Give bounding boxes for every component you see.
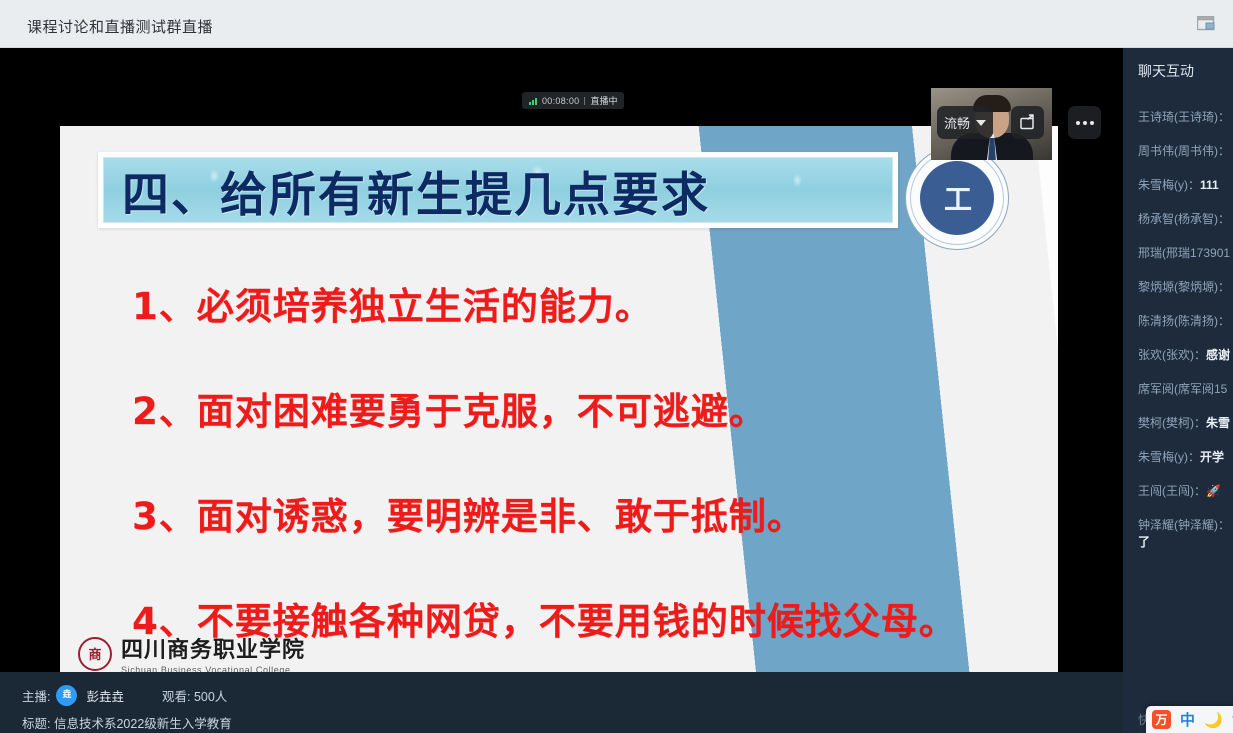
chat-message: 黎炳塬(黎炳塬)： — [1123, 279, 1233, 296]
quality-selector[interactable]: 流畅 — [937, 106, 993, 139]
picture-in-picture-icon[interactable] — [1197, 16, 1217, 34]
college-seal-icon: 商 — [78, 637, 112, 671]
chat-message-sender: 钟泽耀(钟泽耀)： — [1138, 518, 1230, 532]
chat-message-text: 了 — [1138, 535, 1150, 549]
screen-share-icon — [1019, 114, 1036, 131]
chat-message-sender: 邢瑞(邢瑞173901 — [1138, 246, 1230, 260]
video-stage[interactable]: 00:08:00 直播中 四、给所有新生提几点要求 工 1、必须培养独立生活的能… — [0, 48, 1123, 672]
presentation-slide: 四、给所有新生提几点要求 工 1、必须培养独立生活的能力。 2、面对困难要勇于克… — [60, 126, 1058, 672]
live-status-pill: 00:08:00 直播中 — [522, 92, 624, 109]
slide-bullet-list: 1、必须培养独立生活的能力。 2、面对困难要勇于克服，不可逃避。 3、面对诱惑，… — [132, 276, 1052, 672]
stream-info-bar: 主播: 垚 彭垚垚 观看: 500人 标题: 信息技术系2022级新生入学教育 — [0, 672, 1123, 733]
chat-message: 王诗琦(王诗琦)： — [1123, 109, 1233, 126]
chat-message: 王闯(王闯)：🚀 — [1123, 483, 1233, 500]
slide-title: 四、给所有新生提几点要求 — [104, 156, 710, 225]
slide-bullet: 3、面对诱惑，要明辨是非、敢于抵制。 — [132, 486, 1052, 540]
moon-icon[interactable]: 🌙 — [1204, 711, 1223, 729]
chat-message: 樊柯(樊柯)：朱雪 — [1123, 415, 1233, 432]
chat-message-text: 感谢 — [1206, 348, 1230, 362]
chat-message: 钟泽耀(钟泽耀)：了 — [1123, 517, 1233, 551]
viewer-count: 观看: 500人 — [162, 686, 227, 705]
chat-message: 陈清扬(陈清扬)： — [1123, 313, 1233, 330]
screen-share-button[interactable] — [1011, 106, 1044, 139]
college-name-cn: 四川商务职业学院 — [121, 632, 305, 664]
chat-message-text: 111 — [1200, 178, 1219, 192]
stream-timer: 00:08:00 — [542, 96, 579, 106]
divider — [584, 97, 585, 105]
chevron-down-icon[interactable] — [976, 120, 986, 126]
chat-message-sender: 陈清扬(陈清扬)： — [1138, 314, 1230, 328]
signal-bars-icon — [529, 97, 537, 105]
slide-title-banner: 四、给所有新生提几点要求 — [98, 152, 898, 228]
stream-title-value: 信息技术系2022级新生入学教育 — [54, 717, 232, 731]
chat-message-sender: 樊柯(樊柯)： — [1138, 416, 1206, 430]
chat-message: 席军阅(席军阅15 — [1123, 381, 1233, 398]
window-header: 课程讨论和直播测试群直播 — [0, 0, 1233, 48]
chat-panel: 聊天互动 王诗琦(王诗琦)：周书伟(周书伟)：朱雪梅(y)：111杨承智(杨承智… — [1123, 48, 1233, 733]
chat-message: 朱雪梅(y)：111 — [1123, 177, 1233, 194]
chat-message: 张欢(张欢)：感谢 — [1123, 347, 1233, 364]
chat-message-list[interactable]: 王诗琦(王诗琦)：周书伟(周书伟)：朱雪梅(y)：111杨承智(杨承智)：邢瑞(… — [1123, 84, 1233, 704]
host-name: 彭垚垚 — [86, 686, 124, 705]
ime-mode-toggle[interactable]: 中 — [1180, 709, 1195, 730]
more-options-icon — [1076, 121, 1080, 125]
quality-label: 流畅 — [944, 113, 970, 132]
chat-message-text: 🚀 — [1206, 484, 1221, 498]
chat-message-sender: 周书伟(周书伟)： — [1138, 144, 1230, 158]
slide-footer-logo: 商 四川商务职业学院 Sichuan Business Vocational C… — [78, 632, 305, 672]
host-label: 主播: — [22, 686, 50, 705]
chat-message-sender: 张欢(张欢)： — [1138, 348, 1206, 362]
chat-message: 朱雪梅(y)：开学 — [1123, 449, 1233, 466]
chat-message: 杨承智(杨承智)： — [1123, 211, 1233, 228]
host-avatar[interactable]: 垚 — [56, 685, 77, 706]
chat-message-text: 开学 — [1200, 450, 1224, 464]
ime-logo-icon[interactable]: 万 — [1152, 710, 1171, 729]
slide-bullet: 1、必须培养独立生活的能力。 — [132, 276, 1052, 330]
chat-message — [1123, 84, 1233, 92]
chat-message-text: 朱雪 — [1206, 416, 1230, 430]
chat-message: 邢瑞(邢瑞173901 — [1123, 245, 1233, 262]
chat-message: 周书伟(周书伟)： — [1123, 143, 1233, 160]
chat-message-sender: 朱雪梅(y)： — [1138, 178, 1200, 192]
chat-panel-title: 聊天互动 — [1138, 61, 1194, 81]
chat-message-sender: 席军阅(席军阅15 — [1138, 382, 1227, 396]
window-title: 课程讨论和直播测试群直播 — [27, 16, 213, 37]
slide-bullet: 2、面对困难要勇于克服，不可逃避。 — [132, 381, 1052, 435]
college-emblem: 工 — [905, 146, 1009, 250]
college-name-en: Sichuan Business Vocational College — [121, 665, 305, 672]
chat-message-sender: 王闯(王闯)： — [1138, 484, 1206, 498]
ime-toolbar[interactable]: 万 中 🌙 ° — [1146, 706, 1233, 733]
chat-message-sender: 王诗琦(王诗琦)： — [1138, 110, 1230, 124]
stream-title-label: 标题: — [22, 717, 50, 731]
more-options-button[interactable] — [1068, 106, 1101, 139]
chat-message-sender: 朱雪梅(y)： — [1138, 450, 1200, 464]
live-badge: 直播中 — [590, 94, 617, 107]
chat-message-sender: 杨承智(杨承智)： — [1138, 212, 1230, 226]
chat-message-sender: 黎炳塬(黎炳塬)： — [1138, 280, 1230, 294]
